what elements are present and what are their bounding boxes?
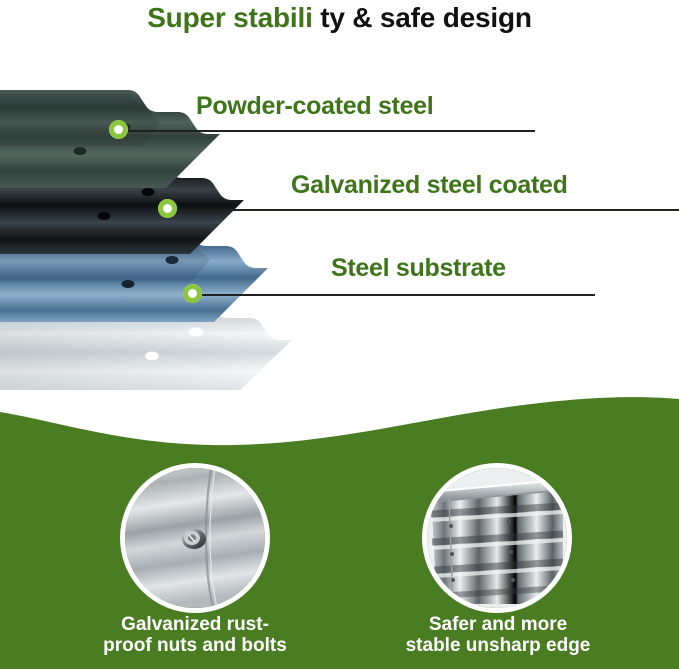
leader-marker-powder-coated-steel	[109, 120, 128, 139]
feature-caption-unsharp-edge: Safer and more stable unsharp edge	[378, 614, 618, 657]
product-infographic: Super stabili ty & safe design	[0, 0, 679, 669]
page-title: Super stabili ty & safe design	[0, 2, 679, 34]
title-black-text: ty & safe design	[313, 2, 532, 33]
feature-photo-unsharp-edge	[422, 463, 572, 613]
leader-line-galvanized-steel-coated	[172, 209, 679, 211]
feature-caption-nuts-and-bolts: Galvanized rust- proof nuts and bolts	[75, 614, 315, 657]
callout-label-galvanized-steel-coated: Galvanized steel coated	[291, 171, 568, 200]
title-green-text: Super stabili	[147, 2, 312, 33]
leader-marker-steel-substrate	[183, 284, 202, 303]
leader-line-powder-coated-steel	[123, 130, 535, 132]
callout-label-steel-substrate: Steel substrate	[331, 254, 506, 283]
callout-label-powder-coated-steel: Powder-coated steel	[196, 92, 433, 121]
powder-coated-layer	[0, 90, 220, 188]
feature-photo-nuts-and-bolts	[120, 463, 270, 613]
leader-line-steel-substrate	[197, 294, 595, 296]
leader-marker-galvanized-steel-coated	[158, 199, 177, 218]
bolt-head	[182, 529, 206, 549]
